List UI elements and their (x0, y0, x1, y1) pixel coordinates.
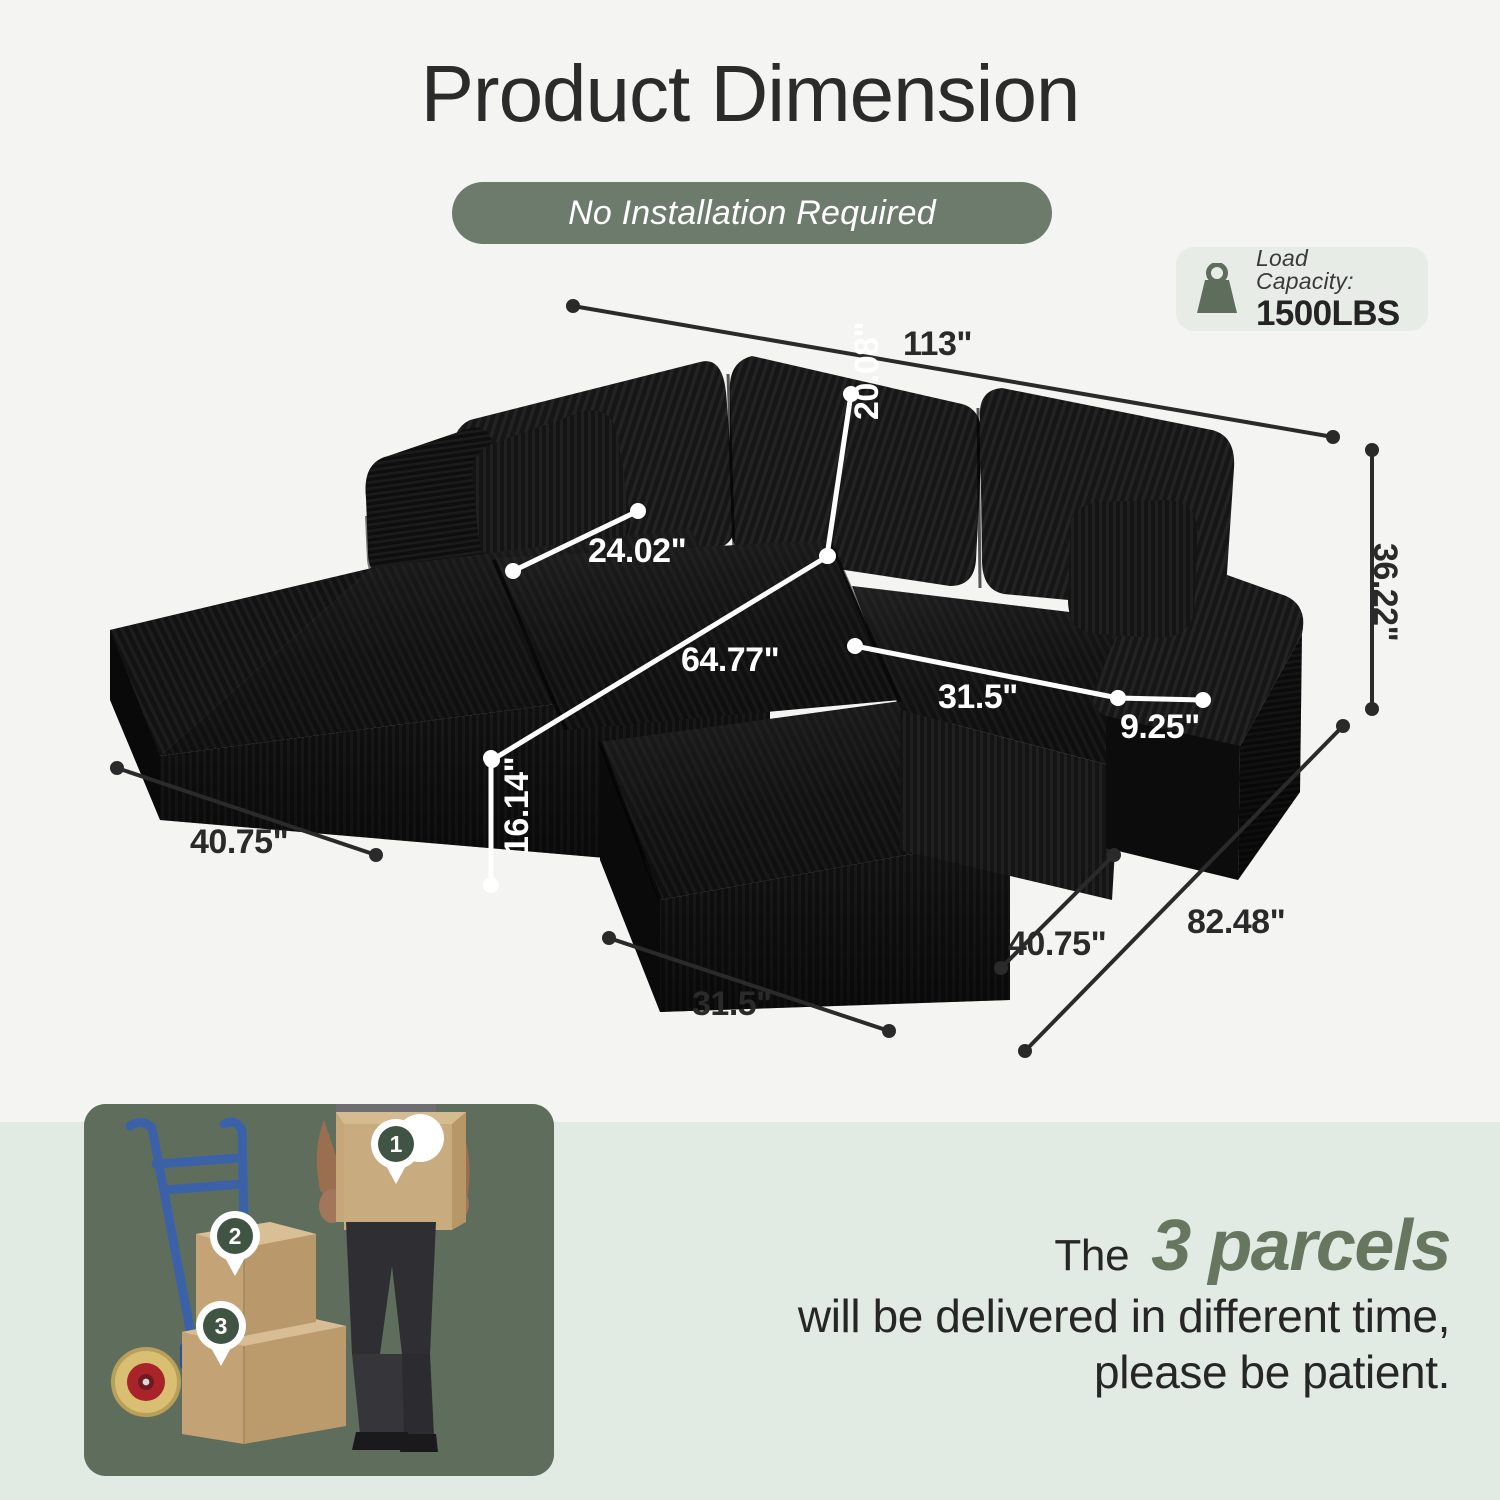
svg-text:1: 1 (390, 1131, 403, 1157)
hand-truck-wheel (113, 1349, 179, 1415)
sofa-diagram (0, 0, 1500, 1122)
dim-label-sleeper-length: 64.77" (681, 641, 779, 680)
dim-label-overall-depth: 82.48" (1187, 903, 1285, 942)
dim-label-overall-width: 113" (903, 325, 972, 364)
dim-label-overall-height: 36.22" (1365, 543, 1404, 641)
dim-label-chaise-depth: 40.75" (190, 823, 288, 862)
delivery-message-line-3: please be patient. (640, 1344, 1450, 1400)
delivery-message-line-2: will be delivered in different time, (640, 1288, 1450, 1344)
dim-label-module-width: 31.5" (692, 985, 772, 1024)
dim-label-seat-width: 31.5" (938, 678, 1018, 717)
delivery-message-count: 3 parcels (1151, 1206, 1450, 1286)
dim-label-side-depth: 40.75" (1008, 925, 1106, 964)
dim-label-seat-height: 16.14" (498, 757, 537, 855)
parcel-photo: 1 2 3 (84, 1104, 554, 1476)
infographic-root: Product Dimension No Installation Requir… (0, 0, 1500, 1500)
svg-text:3: 3 (215, 1313, 228, 1339)
delivery-message-line-1: The3 parcels (640, 1210, 1450, 1282)
svg-text:2: 2 (229, 1223, 242, 1249)
delivery-message: The3 parcels will be delivered in differ… (640, 1210, 1450, 1400)
parcel-photo-svg: 1 2 3 (84, 1104, 554, 1476)
dim-label-arm-width: 9.25" (1120, 708, 1200, 747)
sofa-body (110, 356, 1303, 1012)
delivery-message-the: The (1054, 1231, 1129, 1280)
dim-label-seat-depth: 24.02" (588, 532, 686, 571)
dim-label-back-cushion-height: 20.08" (848, 322, 887, 420)
right-throw-pillow (1068, 500, 1198, 638)
